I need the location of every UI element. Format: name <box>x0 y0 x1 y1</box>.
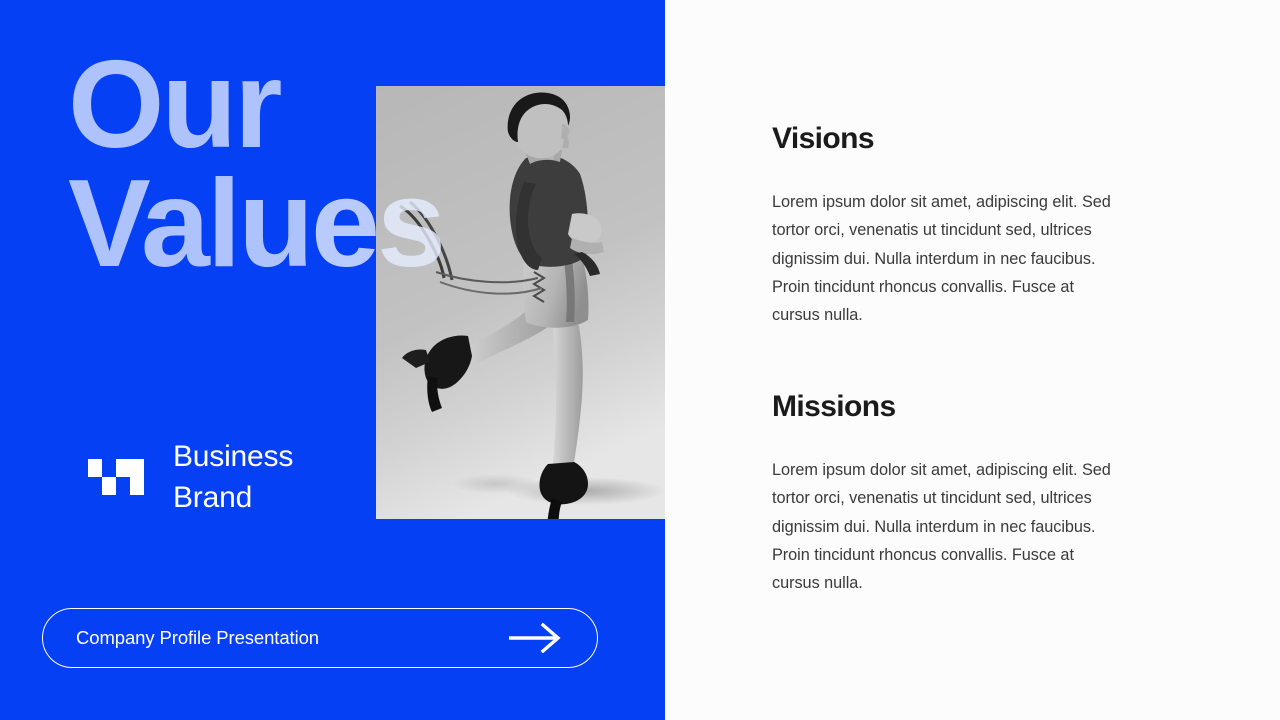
section-missions: Missions Lorem ipsum dolor sit amet, adi… <box>772 390 1117 598</box>
section-visions: Visions Lorem ipsum dolor sit amet, adip… <box>772 122 1117 330</box>
arrow-right-icon <box>507 623 565 653</box>
fashion-photo-illustration <box>376 86 665 519</box>
brand-logo-text: Business Brand <box>173 436 293 518</box>
hero-photo <box>376 86 665 519</box>
visions-body: Lorem ipsum dolor sit amet, adipiscing e… <box>772 188 1117 330</box>
company-profile-presentation-button[interactable]: Company Profile Presentation <box>42 608 598 668</box>
presentation-slide: Our Values Business Brand Company Profil… <box>0 0 1280 720</box>
brand-name-line-1: Business <box>173 436 293 477</box>
missions-heading: Missions <box>772 390 1117 424</box>
brand-name-line-2: Brand <box>173 477 293 518</box>
visions-heading: Visions <box>772 122 1117 156</box>
cta-label: Company Profile Presentation <box>76 627 319 649</box>
brand-logo[interactable]: Business Brand <box>88 436 293 518</box>
missions-body: Lorem ipsum dolor sit amet, adipiscing e… <box>772 456 1117 598</box>
right-content-panel: Visions Lorem ipsum dolor sit amet, adip… <box>665 0 1280 720</box>
business-brand-logo-mark-icon <box>88 455 150 499</box>
